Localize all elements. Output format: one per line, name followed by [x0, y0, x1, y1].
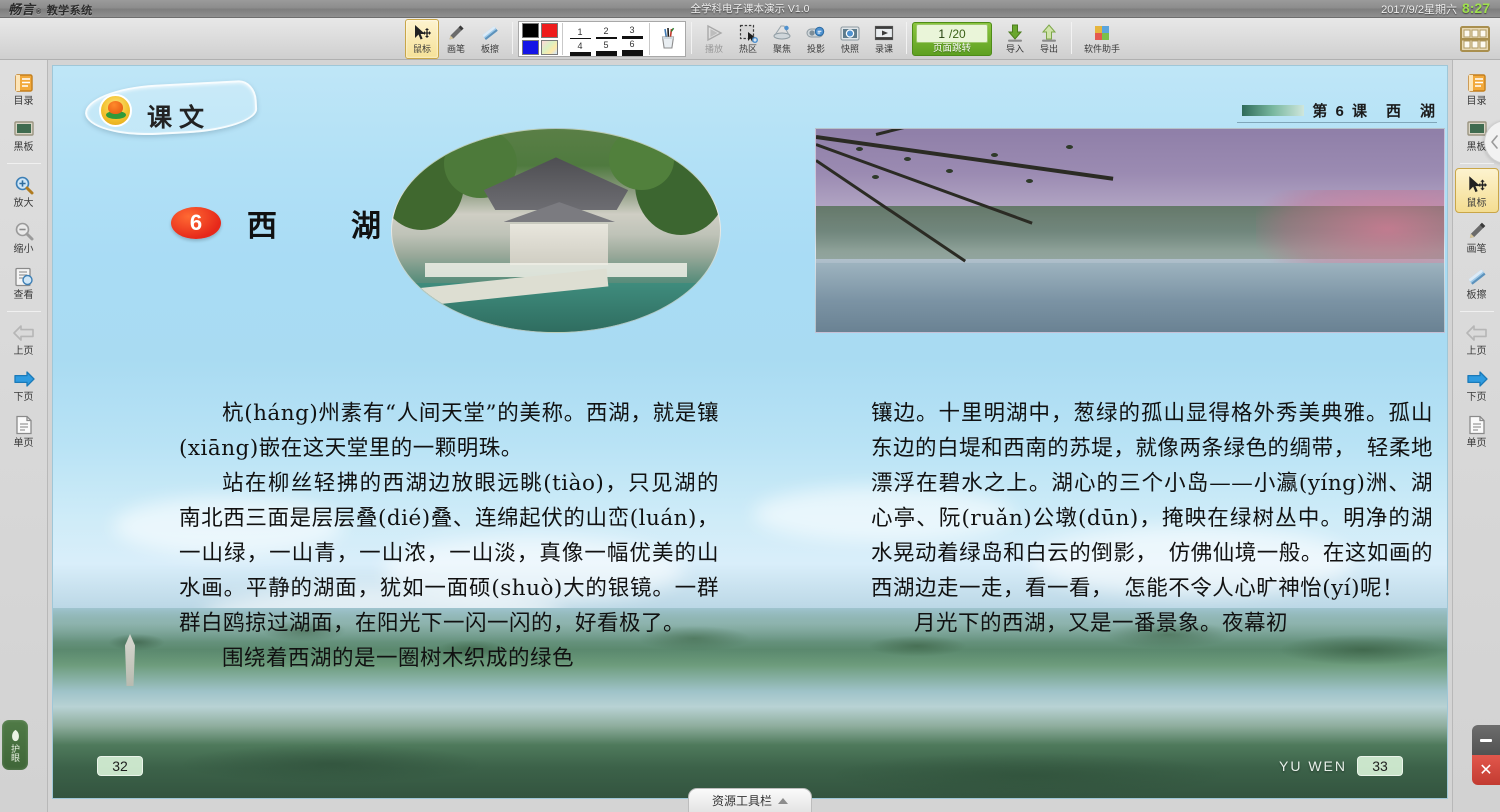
sidebar-divider	[7, 311, 41, 312]
zoom-in-icon	[13, 173, 35, 197]
pen-width-4-label: 4	[577, 42, 582, 51]
clock-area: 2017/9/2星期六 8:27	[1381, 0, 1490, 17]
sidebar-item-catalog-left[interactable]: 目录	[2, 66, 46, 111]
page-jump-display[interactable]: 1 /20	[916, 24, 988, 43]
pen-width-2[interactable]: 2	[593, 22, 619, 39]
sidebar-label: 板擦	[1467, 289, 1487, 302]
pen-width-5[interactable]: 5	[593, 39, 619, 56]
system-time: 8:27	[1462, 0, 1490, 16]
color-swatch-rainbow[interactable]	[541, 40, 558, 55]
sidebar-label: 画笔	[1467, 243, 1487, 256]
lake-water	[816, 263, 1444, 332]
camera-icon	[839, 22, 861, 44]
toolbar-assistant-button[interactable]: 软件助手	[1077, 19, 1127, 59]
upload-arrow-icon	[1039, 22, 1059, 44]
sidebar-item-zoom-in[interactable]: 放大	[2, 168, 46, 213]
section-badge: 课文	[85, 78, 257, 140]
page-icon	[13, 413, 35, 437]
resource-toolbar-label: 资源工具栏	[712, 792, 772, 809]
sidebar-label: 黑板	[14, 141, 34, 154]
window-buttons: ✕	[1472, 725, 1500, 785]
book-icon	[1466, 71, 1488, 95]
toolbar-play-label: 播放	[705, 44, 723, 55]
toolbar-assistant-label: 软件助手	[1084, 44, 1120, 55]
eye-protection-label: 护眼	[10, 744, 20, 762]
sidebar-label: 查看	[14, 289, 34, 302]
eraser-icon	[480, 22, 500, 44]
sidebar-item-view[interactable]: 查看	[2, 260, 46, 305]
main-toolbar: 鼠标 画笔	[0, 18, 1500, 60]
close-button[interactable]: ✕	[1472, 755, 1500, 785]
pen-width-1-label: 1	[577, 28, 582, 37]
toolbar-focus-label: 聚焦	[773, 44, 791, 55]
paragraph: 月光下的西湖，又是一番景象。夜幕初	[871, 606, 1433, 641]
panel-divider-a	[562, 23, 563, 55]
section-badge-label: 课文	[147, 98, 211, 134]
download-arrow-icon	[1005, 22, 1025, 44]
system-date: 2017/9/2星期六	[1381, 1, 1457, 17]
eraser-icon	[1466, 265, 1488, 289]
flower-logo-icon	[99, 94, 132, 127]
sidebar-item-next-page-right[interactable]: 下页	[1455, 362, 1499, 407]
toolbar-record-label: 录课	[875, 44, 893, 55]
paragraph: 围绕着西湖的是一圈树木织成的绿色	[179, 641, 719, 676]
toolbar-strip: 鼠标 画笔	[405, 19, 1127, 59]
color-swatch-red[interactable]	[541, 23, 558, 38]
chevron-left-icon	[1489, 135, 1500, 149]
text-column-right: 镶边。十里明湖中，葱绿的孤山显得格外秀美典雅。孤山东边的白堤和西南的苏堤，就像两…	[871, 396, 1433, 641]
toolbar-play-button[interactable]: 播放	[697, 19, 731, 59]
toolbar-snapshot-label: 快照	[841, 44, 859, 55]
sidebar-label: 单页	[14, 437, 34, 450]
eye-protection-tab[interactable]: 护眼	[2, 720, 28, 770]
pencil-icon	[1466, 219, 1488, 243]
pen-width-6[interactable]: 6	[619, 39, 645, 56]
toolbar-divider-4	[1071, 22, 1072, 54]
brand-registered-mark: ®	[36, 9, 42, 16]
color-swatch-blue[interactable]	[522, 40, 539, 55]
pen-width-4[interactable]: 4	[567, 39, 593, 56]
westlake-shore-photo	[815, 128, 1445, 333]
toolbar-export-label: 导出	[1040, 44, 1058, 55]
brand-name: 畅言	[8, 0, 35, 18]
zoom-out-icon	[13, 219, 35, 243]
toolbar-divider-3	[906, 22, 907, 54]
squares-icon	[1092, 22, 1112, 44]
title-bar: 畅言 ® 教学系统 全学科电子课本演示 V1.0 2017/9/2星期六 8:2…	[0, 0, 1500, 18]
minimize-button[interactable]	[1472, 725, 1500, 755]
toolbar-pen-label: 画笔	[447, 44, 465, 55]
sidebar-divider	[1460, 311, 1494, 312]
paragraph: 杭(háng)州素有“人间天堂”的美称。西湖，就是镶(xiāng)嵌在这天堂里的…	[179, 396, 719, 466]
toolbar-eraser-label: 板擦	[481, 44, 499, 55]
pavilion-wall	[510, 224, 608, 265]
toolbar-focus-button[interactable]: 聚焦	[765, 19, 799, 59]
text-column-left: 杭(háng)州素有“人间天堂”的美称。西湖，就是镶(xiāng)嵌在这天堂里的…	[179, 396, 719, 676]
toolbar-pen-button[interactable]: 画笔	[439, 19, 473, 59]
cursor-move-icon	[1466, 173, 1488, 197]
footer-mark: YU WEN	[1279, 758, 1347, 774]
bookshelf-icon[interactable]	[1458, 22, 1492, 56]
page-icon	[1466, 413, 1488, 437]
lesson-header-bar	[1242, 105, 1304, 116]
toolbar-import-button[interactable]: 导入	[998, 19, 1032, 59]
sidebar-divider	[7, 163, 41, 164]
pavilion-photo	[391, 128, 721, 333]
sidebar-label: 单页	[1467, 437, 1487, 450]
close-icon: ✕	[1479, 760, 1492, 780]
toolbar-eraser-button[interactable]: 板擦	[473, 19, 507, 59]
lesson-header: 第 6 课 西 湖	[1242, 100, 1437, 121]
toolbar-projector-button[interactable]: 投影	[799, 19, 833, 59]
app-brand: 畅言 ® 教学系统	[8, 0, 93, 18]
pen-width-grid: 1 2 3 4 5 6	[567, 22, 645, 56]
sidebar-label: 上页	[1467, 345, 1487, 358]
pen-style-panel: 1 2 3 4 5 6	[518, 21, 686, 57]
page-number-right: 33	[1357, 756, 1403, 776]
film-icon	[873, 22, 895, 44]
paragraph: 站在柳丝轻拂的西湖边放眼远眺(tiào)，只见湖的南北西三面是层层叠(dié)叠…	[179, 466, 719, 641]
sidebar-item-eraser-right[interactable]: 板擦	[1455, 260, 1499, 305]
focus-icon	[772, 22, 792, 44]
sidebar-label: 缩小	[14, 243, 34, 256]
sidebar-label: 下页	[14, 391, 34, 404]
play-icon	[704, 22, 724, 44]
sidebar-item-single-page-left[interactable]: 单页	[2, 408, 46, 453]
sidebar-item-prev-page-right[interactable]: 上页	[1455, 316, 1499, 361]
caret-up-icon	[778, 798, 788, 804]
lesson-title-row: 6 西 湖	[171, 201, 403, 245]
sidebar-item-next-page-left[interactable]: 下页	[2, 362, 46, 407]
left-sidebar: 目录 黑板 放大	[0, 60, 48, 812]
lesson-title: 西 湖	[247, 201, 403, 245]
arrow-left-icon	[1465, 321, 1489, 345]
book-icon	[13, 71, 35, 95]
minimize-icon	[1480, 739, 1492, 742]
lesson-number-badge: 6	[171, 207, 221, 239]
page-number-left: 32	[97, 756, 143, 776]
blackboard-icon	[13, 117, 35, 141]
lesson-header-text: 第 6 课 西 湖	[1312, 100, 1437, 121]
page-stage: 课文 第 6 课 西 湖 6 西 湖	[48, 60, 1452, 812]
arrow-right-icon	[12, 367, 36, 391]
cursor-move-icon	[412, 22, 432, 44]
flower-petal	[108, 101, 123, 114]
sidebar-label: 目录	[14, 95, 34, 108]
color-swatch-black[interactable]	[522, 23, 539, 38]
page-jump-label: 页面跳转	[933, 43, 971, 55]
pen-width-2-label: 2	[603, 27, 608, 36]
sidebar-label: 目录	[1467, 95, 1487, 108]
sidebar-item-single-page-right[interactable]: 单页	[1455, 408, 1499, 453]
sidebar-label: 放大	[14, 197, 34, 210]
resource-toolbar-tab[interactable]: 资源工具栏	[688, 788, 812, 812]
pen-width-5-label: 5	[603, 41, 608, 50]
sidebar-label: 下页	[1467, 391, 1487, 404]
toolbar-export-button[interactable]: 导出	[1032, 19, 1066, 59]
sidebar-item-catalog-right[interactable]: 目录	[1455, 66, 1499, 111]
eye-shield-icon	[9, 729, 22, 742]
right-sidebar: 目录 黑板 鼠标	[1452, 60, 1500, 812]
sidebar-item-blackboard-left[interactable]: 黑板	[2, 112, 46, 157]
pen-cup-icon[interactable]	[654, 26, 682, 52]
toolbar-hotspot-label: 热区	[739, 44, 757, 55]
toolbar-record-button[interactable]: 录课	[867, 19, 901, 59]
book-page: 课文 第 6 课 西 湖 6 西 湖	[52, 65, 1448, 799]
sidebar-label: 鼠标	[1467, 197, 1487, 210]
view-icon	[13, 265, 35, 289]
toolbar-divider-2	[691, 22, 692, 54]
toolbar-hotspot-button[interactable]: 热区	[731, 19, 765, 59]
color-swatches	[522, 23, 558, 55]
panel-divider-b	[649, 23, 650, 55]
toolbar-cursor-label: 鼠标	[413, 44, 431, 55]
toolbar-divider-1	[512, 22, 513, 54]
page-jump-total: /20	[949, 27, 966, 41]
paragraph: 镶边。十里明湖中，葱绿的孤山显得格外秀美典雅。孤山东边的白堤和西南的苏堤，就像两…	[871, 396, 1433, 606]
pen-width-3[interactable]: 3	[619, 22, 645, 39]
pen-width-6-label: 6	[629, 40, 634, 49]
projector-icon	[805, 22, 827, 44]
sidebar-item-zoom-out[interactable]: 缩小	[2, 214, 46, 259]
lesson-header-rule	[1237, 122, 1437, 123]
toolbar-import-label: 导入	[1006, 44, 1024, 55]
arrow-right-icon	[1465, 367, 1489, 391]
app-root: 畅言 ® 教学系统 全学科电子课本演示 V1.0 2017/9/2星期六 8:2…	[0, 0, 1500, 812]
brand-system-label: 教学系统	[47, 2, 93, 18]
toolbar-snapshot-button[interactable]: 快照	[833, 19, 867, 59]
hotspot-icon	[738, 22, 758, 44]
sidebar-item-prev-page-left[interactable]: 上页	[2, 316, 46, 361]
pen-width-3-label: 3	[629, 26, 634, 35]
page-jump-control[interactable]: 1 /20 页面跳转	[912, 22, 992, 56]
arrow-left-icon	[12, 321, 36, 345]
page-jump-current: 1	[938, 27, 945, 41]
sidebar-item-pen-right[interactable]: 画笔	[1455, 214, 1499, 259]
pencil-icon	[446, 22, 466, 44]
toolbar-projector-label: 投影	[807, 44, 825, 55]
sidebar-item-cursor-right[interactable]: 鼠标	[1455, 168, 1499, 213]
sidebar-label: 上页	[14, 345, 34, 358]
toolbar-cursor-button[interactable]: 鼠标	[405, 19, 439, 59]
sidebar-divider	[1460, 163, 1494, 164]
pen-width-1[interactable]: 1	[567, 22, 593, 39]
window-title: 全学科电子课本演示 V1.0	[690, 1, 809, 16]
